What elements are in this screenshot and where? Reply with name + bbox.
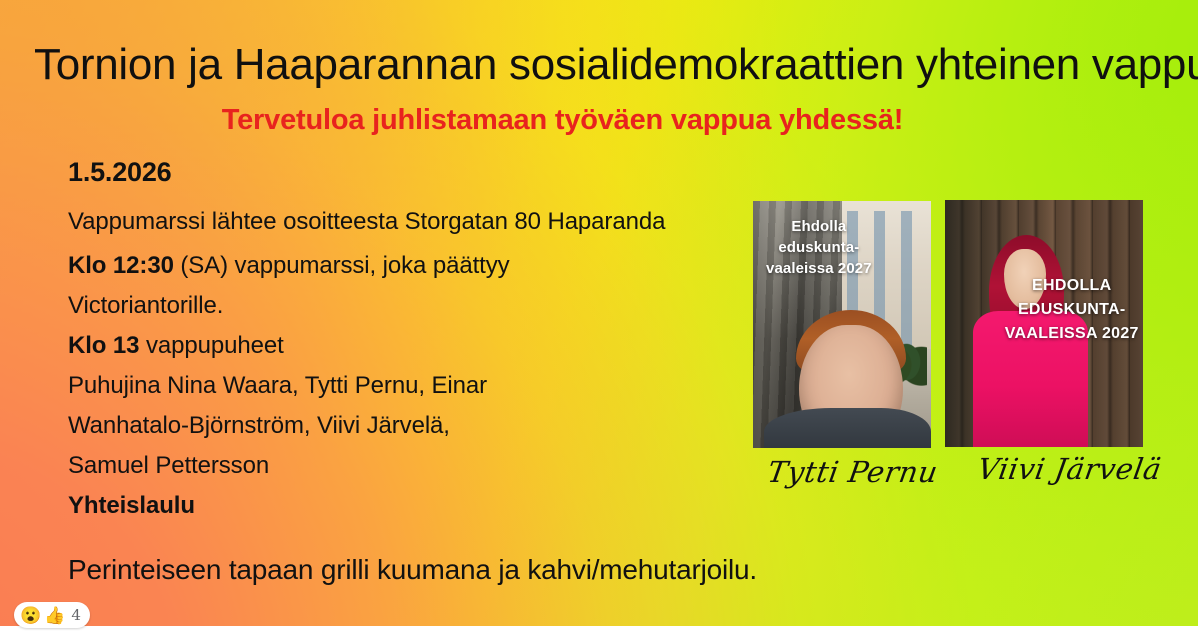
poster-image: Tornion ja Haaparannan sosialidemokraatt… (0, 0, 1198, 637)
speakers-line-3: Samuel Pettersson (68, 446, 758, 486)
candidate-photo-tytti: Ehdolla eduskunta-vaaleissa 2027 (753, 201, 931, 448)
time-13-description: vappupuheet (139, 332, 283, 359)
reaction-summary-pill[interactable]: 😮 👍 4 (14, 602, 90, 628)
poster-details-block: 1.5.2026 Vappumarssi lähtee osoitteesta … (68, 155, 758, 526)
singalong-line: Yhteislaulu (68, 486, 758, 526)
march-end-text: Victoriantorille. (68, 292, 223, 319)
thumbs-up-reaction-icon[interactable]: 👍 (44, 607, 65, 624)
photo-overlay-text-viivi: EHDOLLA EDUSKUNTA-VAALEISSA 2027 (1004, 274, 1139, 346)
closing-note: Perinteiseen tapaan grilli kuumana ja ka… (68, 552, 757, 588)
singalong-label: Yhteislaulu (68, 492, 195, 519)
march-start-line: Vappumarssi lähtee osoitteesta Storgatan… (68, 202, 758, 242)
signature-viivi-jarvela: Viivi Järvelä (975, 452, 1164, 486)
speakers-text-1: Puhujina Nina Waara, Tytti Pernu, Einar (68, 372, 487, 399)
candidate-photo-viivi: EHDOLLA EDUSKUNTA-VAALEISSA 2027 (945, 200, 1143, 447)
reaction-bar: 😮 👍 4 (0, 601, 1198, 637)
reaction-count: 4 (71, 606, 81, 624)
speakers-text-2: Wanhatalo-Björnström, Viivi Järvelä, (68, 412, 450, 439)
poster-subtitle: Tervetuloa juhlistamaan työväen vappua y… (0, 102, 1125, 138)
page-title: Tornion ja Haaparannan sosialidemokraatt… (34, 40, 1168, 90)
event-date: 1.5.2026 (68, 155, 758, 189)
photo-overlay-text-tytti: Ehdolla eduskunta-vaaleissa 2027 (760, 216, 877, 279)
speakers-text-3: Samuel Pettersson (68, 452, 269, 479)
time-label-1230: Klo 12:30 (68, 252, 174, 279)
photo-person-torso (764, 408, 931, 448)
time-label-13: Klo 13 (68, 332, 139, 359)
schedule-line-1230: Klo 12:30 (SA) vappumarssi, joka päättyy (68, 246, 758, 286)
march-end-line: Victoriantorille. (68, 286, 758, 326)
signature-tytti-pernu: Tytti Pernu (765, 455, 940, 489)
wow-reaction-icon[interactable]: 😮 (20, 607, 41, 624)
march-start-text: Vappumarssi lähtee osoitteesta Storgatan… (68, 208, 665, 235)
speakers-line-2: Wanhatalo-Björnström, Viivi Järvelä, (68, 406, 758, 446)
schedule-line-13: Klo 13 vappupuheet (68, 326, 758, 366)
speakers-line-1: Puhujina Nina Waara, Tytti Pernu, Einar (68, 366, 758, 406)
time-1230-description: (SA) vappumarssi, joka päättyy (174, 252, 510, 279)
